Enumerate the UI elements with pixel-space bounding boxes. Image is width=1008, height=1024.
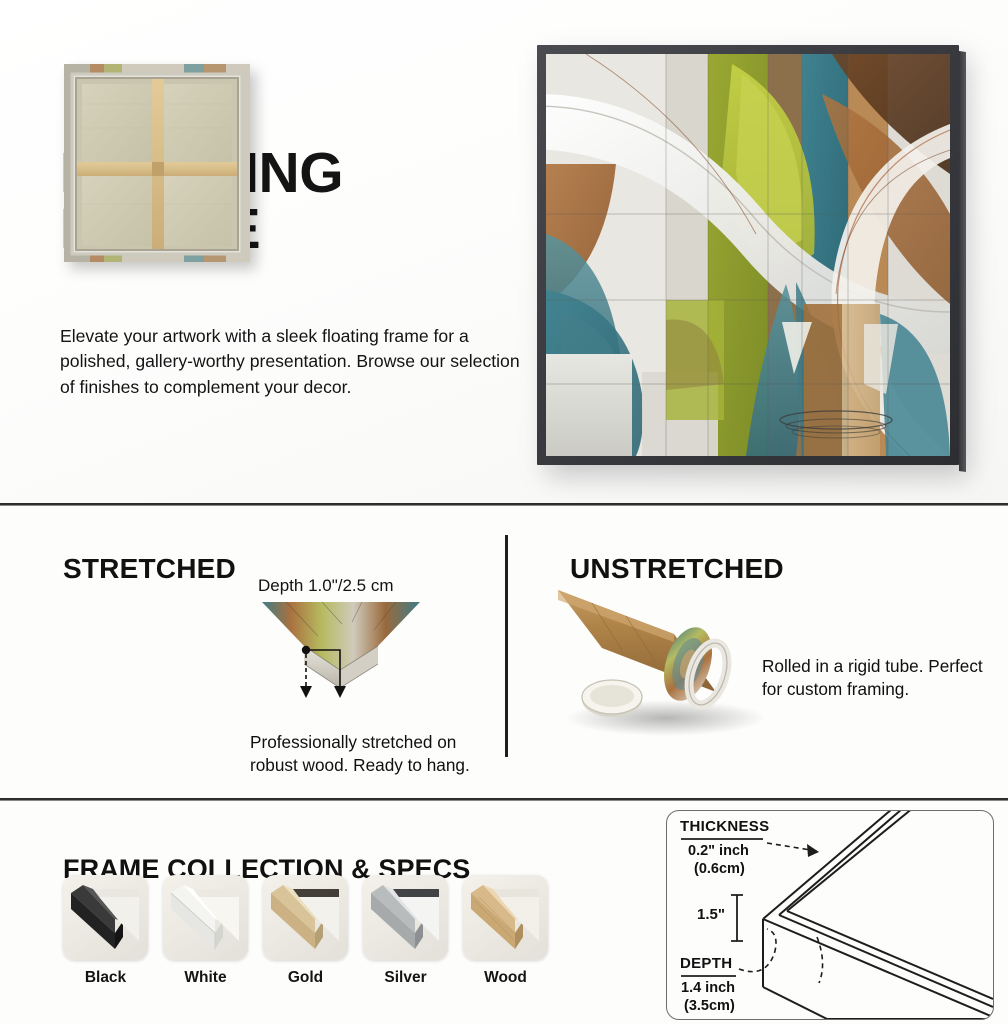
- frame-swatch-silver[interactable]: Silver: [363, 875, 448, 987]
- swatch-label: Silver: [363, 969, 448, 987]
- stretcher-bar-photo: [64, 64, 250, 262]
- infographic-page: FLOATING FRAME Elevate your artwork with…: [0, 0, 1008, 1024]
- unstretched-caption: Rolled in a rigid tube. Perfect for cust…: [762, 655, 1007, 701]
- section-divider-vertical: [505, 535, 508, 757]
- spec-depth-label: DEPTH: [680, 955, 732, 972]
- swatch-tile[interactable]: [463, 875, 548, 960]
- spec-thickness-underline: [681, 838, 763, 840]
- spec-depth-value-inch: 1.4 inch: [681, 980, 735, 996]
- canvas-corner-depth-photo: [262, 600, 420, 692]
- spec-height-value: 1.5": [697, 906, 725, 923]
- unstretched-heading: UNSTRETCHED: [570, 553, 784, 585]
- depth-label: Depth 1.0"/2.5 cm: [258, 576, 394, 596]
- shipping-tube-photo: [556, 582, 768, 742]
- swatch-tile[interactable]: [363, 875, 448, 960]
- swatch-label: Wood: [463, 969, 548, 987]
- stretched-heading: STRETCHED: [63, 553, 236, 585]
- spec-depth-underline: [681, 975, 736, 977]
- frame-swatch-wood[interactable]: Wood: [463, 875, 548, 987]
- swatch-tile[interactable]: [163, 875, 248, 960]
- artwork-canvas: [546, 54, 950, 456]
- frame-swatch-gold[interactable]: Gold: [263, 875, 348, 987]
- swatch-label: Gold: [263, 969, 348, 987]
- frame-swatch-white[interactable]: White: [163, 875, 248, 987]
- framed-artwork: [537, 45, 959, 465]
- hero-description: Elevate your artwork with a sleek floati…: [60, 324, 530, 401]
- floating-frame-border: [537, 45, 959, 465]
- frame-swatch-black[interactable]: Black: [63, 875, 148, 987]
- frame-swatch-list: Black White: [63, 875, 548, 987]
- spec-thickness-label: THICKNESS: [680, 818, 769, 835]
- swatch-tile[interactable]: [63, 875, 148, 960]
- stretched-caption: Professionally stretched on robust wood.…: [250, 731, 505, 776]
- spec-thickness-value-cm: (0.6cm): [694, 861, 745, 877]
- spec-thickness-value-inch: 0.2" inch: [688, 843, 749, 859]
- swatch-tile[interactable]: [263, 875, 348, 960]
- swatch-label: White: [163, 969, 248, 987]
- swatch-label: Black: [63, 969, 148, 987]
- spec-depth-value-cm: (3.5cm): [684, 998, 735, 1014]
